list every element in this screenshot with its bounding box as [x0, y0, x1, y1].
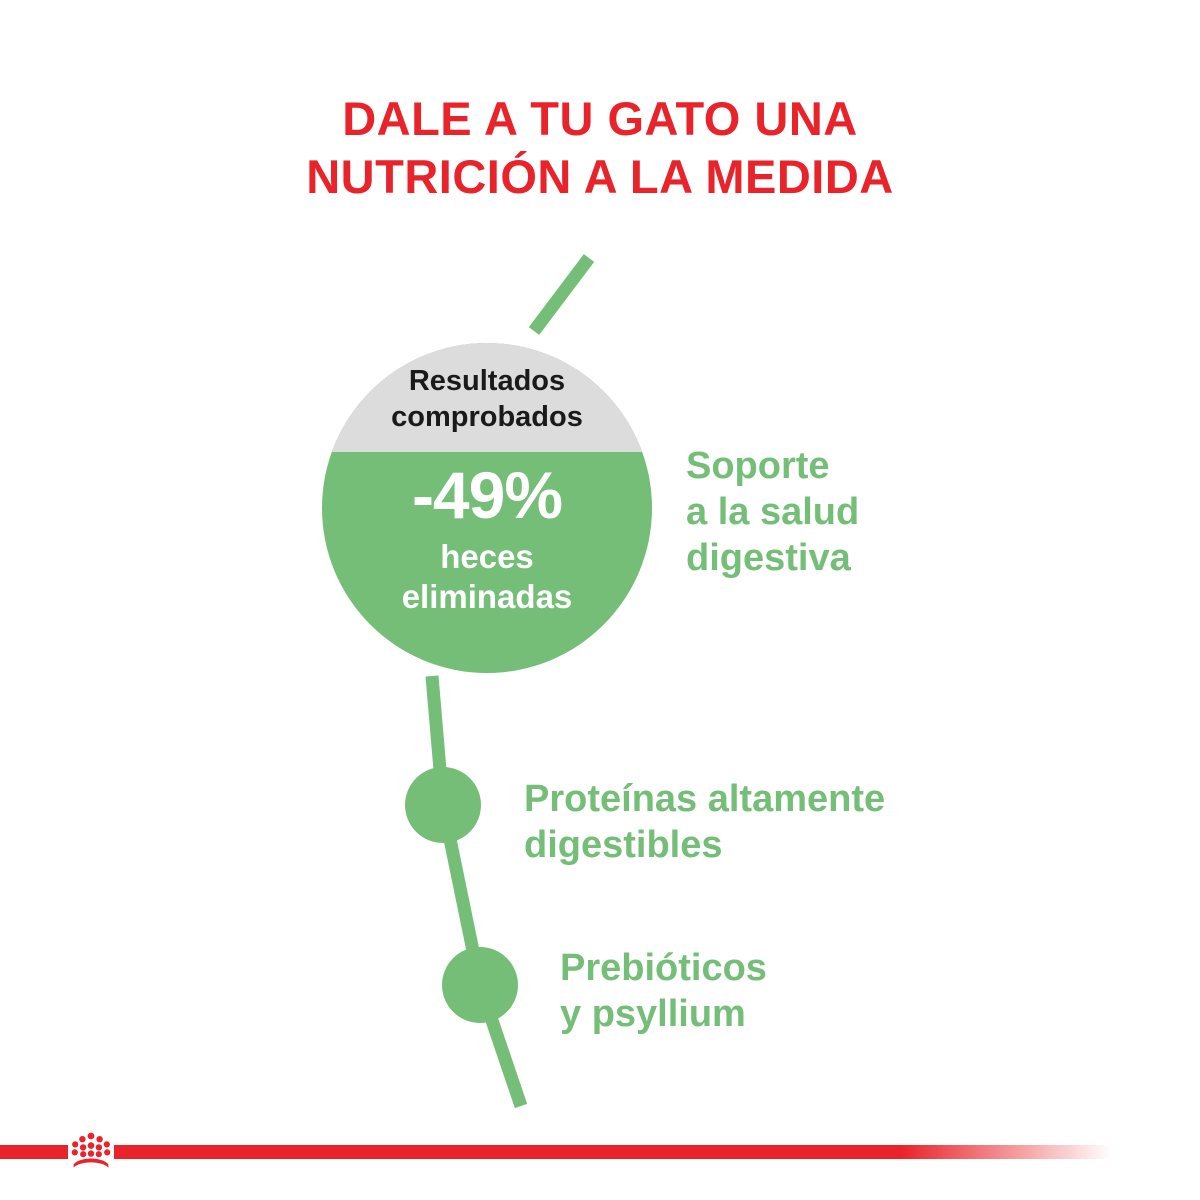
infographic-canvas: DALE A TU GATO UNA NUTRICIÓN A LA MEDIDA… — [0, 0, 1200, 1200]
stat-circle: Resultados comprobados -49% heces elimin… — [322, 343, 652, 673]
benefit-1-line-3: digestiva — [686, 535, 859, 581]
benefit-2-line-2: digestibles — [524, 822, 885, 868]
connector-line-middle — [443, 805, 480, 985]
benefit-1-line-1: Soporte — [686, 443, 859, 489]
benefit-1-line-2: a la salud — [686, 489, 859, 535]
proof-label-line-2: comprobados — [322, 399, 652, 435]
brand-bar — [0, 1145, 1200, 1159]
connector-line-top — [534, 258, 589, 331]
stat-value: -49% — [322, 459, 652, 531]
benefit-3-line-1: Prebióticos — [560, 945, 767, 991]
headline-line-2: NUTRICIÓN A LA MEDIDA — [0, 148, 1200, 206]
benefit-3-line-2: y psyllium — [560, 991, 767, 1037]
benefit-digestive-health: Soporte a la salud digestiva — [686, 443, 859, 581]
benefit-prebiotics-psyllium: Prebióticos y psyllium — [560, 945, 767, 1037]
proof-label-line-1: Resultados — [322, 363, 652, 399]
benefit-2-line-1: Proteínas altamente — [524, 776, 885, 822]
headline-line-1: DALE A TU GATO UNA — [0, 90, 1200, 148]
connector-node-prebiotics — [442, 947, 518, 1023]
connector-line-lower — [480, 985, 521, 1106]
stat-caption: heces eliminadas — [322, 537, 652, 617]
connector-line-upper — [432, 676, 443, 805]
crown-icon — [70, 1128, 112, 1172]
stat-caption-line-1: heces — [322, 537, 652, 577]
benefit-digestible-proteins: Proteínas altamente digestibles — [524, 776, 885, 868]
connector-node-proteins — [405, 767, 481, 843]
proof-label: Resultados comprobados — [322, 363, 652, 435]
page-title: DALE A TU GATO UNA NUTRICIÓN A LA MEDIDA — [0, 90, 1200, 206]
stat-caption-line-2: eliminadas — [322, 577, 652, 617]
